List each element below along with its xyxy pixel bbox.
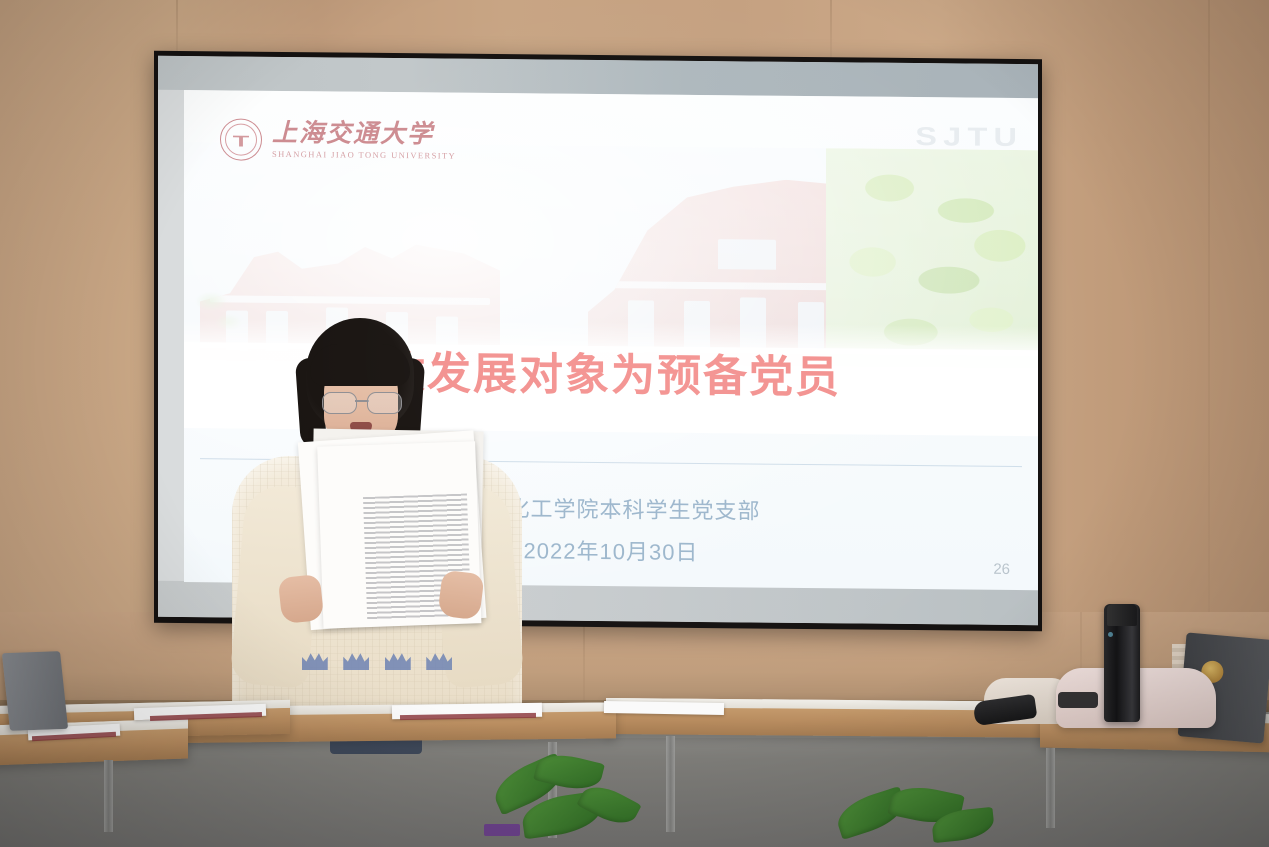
hand-left bbox=[278, 574, 325, 624]
paper-stack bbox=[604, 701, 724, 715]
plant-right bbox=[836, 788, 996, 847]
presenter bbox=[232, 318, 522, 738]
lens-right bbox=[367, 392, 402, 414]
table-leg bbox=[104, 760, 113, 832]
crown-icon bbox=[385, 650, 411, 670]
sjtu-watermark: SJTU bbox=[915, 121, 1023, 153]
thermos-marking bbox=[1108, 632, 1113, 637]
lens-left bbox=[322, 392, 357, 414]
crown-icon bbox=[302, 650, 328, 670]
wall-panel-seam bbox=[830, 0, 832, 62]
logo-english-name: SHANGHAI JIAO TONG UNIVERSITY bbox=[272, 149, 456, 161]
crown-icon bbox=[343, 650, 369, 670]
wall-panel-seam bbox=[583, 612, 585, 712]
purple-object bbox=[484, 824, 520, 836]
sjtu-logo: 上海交通大学 SHANGHAI JIAO TONG UNIVERSITY bbox=[220, 118, 456, 162]
slide-page-number: 26 bbox=[993, 561, 1010, 578]
laptop-left bbox=[2, 651, 68, 731]
table-leg bbox=[1046, 748, 1055, 828]
crown-icon bbox=[426, 650, 452, 670]
sweater-crown-pattern bbox=[294, 636, 460, 684]
thermos-bottle bbox=[1104, 604, 1140, 722]
bangs bbox=[310, 344, 410, 386]
classroom-scene: 上海交通大学 SHANGHAI JIAO TONG UNIVERSITY SJT… bbox=[0, 0, 1269, 847]
logo-chinese-name: 上海交通大学 bbox=[272, 121, 456, 148]
glasses-icon bbox=[320, 392, 404, 412]
dark-accessory bbox=[1058, 692, 1098, 708]
university-seal-icon bbox=[220, 118, 262, 160]
table-leg bbox=[666, 736, 675, 832]
wall-panel-seam bbox=[1208, 0, 1210, 712]
thermos-cap bbox=[1107, 604, 1137, 626]
